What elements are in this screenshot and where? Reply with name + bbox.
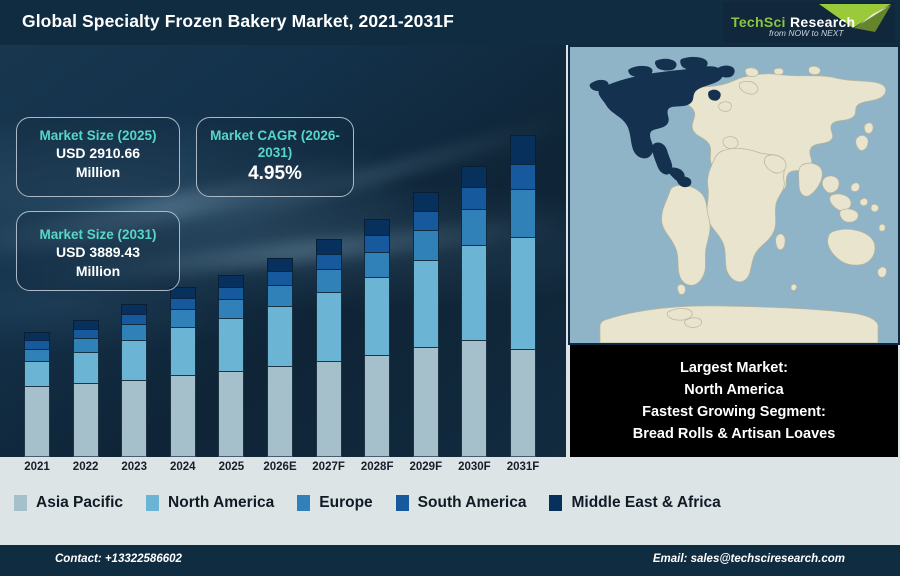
fastest-segment-value: Bread Rolls & Artisan Loaves bbox=[633, 423, 836, 445]
stat-card-value: USD 3889.43 bbox=[17, 243, 179, 262]
bar-segment bbox=[218, 371, 244, 457]
stat-card-market-size-2025: Market Size (2025) USD 2910.66 Million bbox=[16, 117, 180, 197]
bar-segment bbox=[413, 260, 439, 347]
bar-segment bbox=[510, 164, 536, 189]
x-axis-tick-2026E: 2026E bbox=[258, 461, 302, 473]
stat-card-title: Market Size (2025) bbox=[17, 127, 179, 144]
bar-segment bbox=[364, 277, 390, 354]
legend-item-asia-pacific[interactable]: Asia Pacific bbox=[14, 494, 123, 512]
header-bar: Global Specialty Frozen Bakery Market, 2… bbox=[0, 0, 900, 45]
x-axis-tick-2030F: 2030F bbox=[452, 461, 496, 473]
bar-segment bbox=[461, 209, 487, 245]
legend-swatch-icon bbox=[14, 495, 27, 511]
bar-segment bbox=[24, 332, 50, 340]
chart-legend: Asia PacificNorth AmericaEuropeSouth Ame… bbox=[0, 483, 900, 545]
bar-segment bbox=[364, 219, 390, 235]
footer-bar: Contact: +13322586602 Email: sales@techs… bbox=[0, 545, 900, 576]
legend-label: North America bbox=[168, 494, 274, 512]
bar-segment bbox=[267, 366, 293, 457]
world-map bbox=[570, 47, 898, 343]
legend-label: Europe bbox=[319, 494, 372, 512]
bar-segment bbox=[510, 189, 536, 237]
bar-segment bbox=[413, 230, 439, 260]
stat-card-title: Market Size (2031) bbox=[17, 226, 179, 243]
bar-segment bbox=[73, 352, 99, 383]
fastest-segment-label: Fastest Growing Segment: bbox=[642, 401, 826, 423]
x-axis-tick-2023: 2023 bbox=[112, 461, 156, 473]
bar-segment bbox=[170, 298, 196, 309]
bar-segment bbox=[413, 347, 439, 457]
x-axis-tick-2028F: 2028F bbox=[355, 461, 399, 473]
bar-segment bbox=[267, 285, 293, 306]
stat-card-title: Market CAGR (2026-2031) bbox=[197, 127, 353, 162]
bar-column bbox=[170, 287, 196, 457]
legend-label: Asia Pacific bbox=[36, 494, 123, 512]
largest-market-label: Largest Market: bbox=[680, 357, 788, 379]
bar-segment bbox=[316, 269, 342, 292]
legend-swatch-icon bbox=[297, 495, 310, 511]
x-axis-tick-2029F: 2029F bbox=[404, 461, 448, 473]
legend-swatch-icon bbox=[549, 495, 562, 511]
bar-segment bbox=[461, 166, 487, 187]
legend-item-north-america[interactable]: North America bbox=[146, 494, 274, 512]
bar-segment bbox=[316, 292, 342, 361]
bar-column bbox=[461, 166, 487, 457]
bar-segment bbox=[413, 211, 439, 230]
stat-card-market-cagr: Market CAGR (2026-2031) 4.95% bbox=[196, 117, 354, 197]
bar-column bbox=[510, 135, 536, 457]
stat-card-market-size-2031: Market Size (2031) USD 3889.43 Million bbox=[16, 211, 180, 291]
bar-segment bbox=[73, 383, 99, 457]
bar-segment bbox=[364, 235, 390, 252]
x-axis-tick-2031F: 2031F bbox=[501, 461, 545, 473]
legend-swatch-icon bbox=[396, 495, 409, 511]
bar-column bbox=[413, 192, 439, 457]
key-findings-box: Largest Market: North America Fastest Gr… bbox=[570, 345, 898, 457]
bar-column bbox=[121, 304, 147, 457]
world-map-svg bbox=[570, 47, 898, 343]
bar-column bbox=[364, 219, 390, 457]
legend-item-middle-east-africa[interactable]: Middle East & Africa bbox=[549, 494, 720, 512]
bar-column bbox=[316, 239, 342, 457]
stat-card-unit: Million bbox=[17, 163, 179, 182]
bar-segment bbox=[170, 375, 196, 457]
bar-column bbox=[73, 320, 99, 457]
stat-card-value: USD 2910.66 bbox=[17, 144, 179, 163]
bar-segment bbox=[121, 340, 147, 380]
x-axis-labels: 202120222023202420252026E2027F2028F2029F… bbox=[0, 457, 566, 483]
bar-segment bbox=[121, 380, 147, 457]
bar-column bbox=[267, 258, 293, 457]
bar-segment bbox=[364, 355, 390, 457]
bar-segment bbox=[267, 258, 293, 271]
bar-segment bbox=[413, 192, 439, 211]
largest-market-value: North America bbox=[684, 379, 783, 401]
bar-segment bbox=[73, 320, 99, 329]
footer-email: Email: sales@techsciresearch.com bbox=[653, 553, 845, 565]
legend-swatch-icon bbox=[146, 495, 159, 511]
x-axis-tick-2025: 2025 bbox=[209, 461, 253, 473]
bar-segment bbox=[510, 237, 536, 349]
bar-segment bbox=[364, 252, 390, 277]
page-title: Global Specialty Frozen Bakery Market, 2… bbox=[22, 11, 454, 32]
bar-segment bbox=[218, 275, 244, 287]
techsci-research-logo: TechSci Research from NOW to NEXT bbox=[723, 2, 895, 43]
bar-segment bbox=[218, 299, 244, 318]
bar-segment bbox=[170, 309, 196, 327]
bar-segment bbox=[73, 338, 99, 351]
bar-segment bbox=[24, 386, 50, 457]
bar-segment bbox=[510, 135, 536, 164]
bar-segment bbox=[121, 304, 147, 314]
legend-label: Middle East & Africa bbox=[571, 494, 720, 512]
stat-card-value: 4.95% bbox=[197, 162, 353, 186]
bar-segment bbox=[461, 187, 487, 209]
infographic-root: Global Specialty Frozen Bakery Market, 2… bbox=[0, 0, 900, 576]
bar-segment bbox=[218, 318, 244, 371]
bar-segment bbox=[461, 245, 487, 341]
legend-label: South America bbox=[418, 494, 527, 512]
bar-segment bbox=[170, 327, 196, 375]
bar-segment bbox=[121, 314, 147, 324]
bar-segment bbox=[510, 349, 536, 457]
x-axis-tick-2027F: 2027F bbox=[307, 461, 351, 473]
logo-tagline: from NOW to NEXT bbox=[769, 28, 844, 38]
bar-segment bbox=[73, 329, 99, 338]
bar-segment bbox=[316, 361, 342, 457]
bar-segment bbox=[267, 271, 293, 285]
bar-segment bbox=[267, 306, 293, 366]
footer-contact: Contact: +13322586602 bbox=[55, 553, 182, 565]
bar-column bbox=[218, 275, 244, 457]
bar-segment bbox=[24, 361, 50, 385]
stat-card-unit: Million bbox=[17, 262, 179, 281]
legend-item-europe[interactable]: Europe bbox=[297, 494, 372, 512]
bar-segment bbox=[24, 340, 50, 348]
world-map-panel bbox=[568, 45, 900, 345]
x-axis-tick-2024: 2024 bbox=[161, 461, 205, 473]
legend-item-south-america[interactable]: South America bbox=[396, 494, 527, 512]
bar-segment bbox=[218, 287, 244, 299]
bar-segment bbox=[316, 254, 342, 269]
chart-panel: Market Size (2025) USD 2910.66 Million M… bbox=[0, 45, 566, 457]
bar-segment bbox=[121, 324, 147, 340]
bar-segment bbox=[316, 239, 342, 254]
x-axis-tick-2022: 2022 bbox=[64, 461, 108, 473]
bar-segment bbox=[461, 340, 487, 457]
x-axis-tick-2021: 2021 bbox=[15, 461, 59, 473]
bar-segment bbox=[24, 349, 50, 362]
bar-column bbox=[24, 332, 50, 457]
